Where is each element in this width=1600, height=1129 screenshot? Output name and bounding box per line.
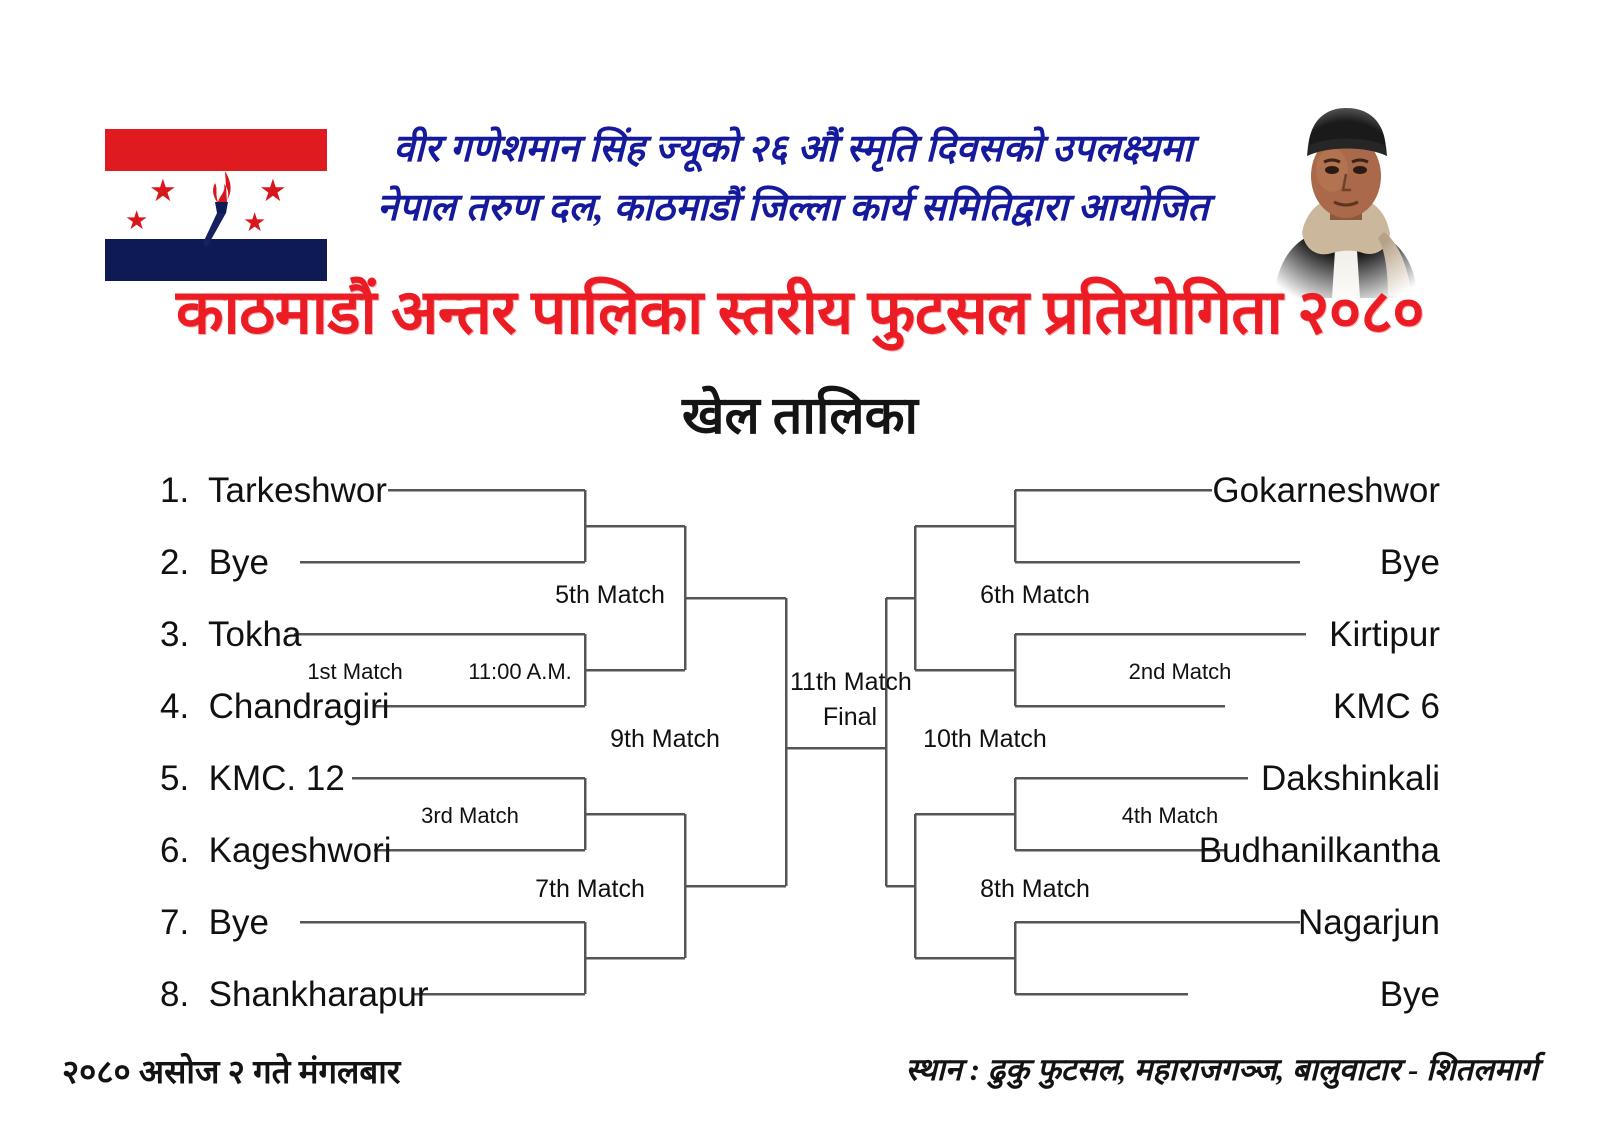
team-name: Bye <box>209 543 269 582</box>
bracket-team-left-2: 2. Bye <box>160 545 269 580</box>
match-label-9th: 9th Match <box>595 725 735 754</box>
tournament-bracket: 1. Tarkeshwor 2. Bye 3. Tokha 4. Chandra… <box>0 440 1600 1030</box>
team-name: KMC. 12 <box>209 759 345 798</box>
seed-number: 7. <box>160 905 199 940</box>
bracket-team-right-6: Budhanilkantha <box>1199 833 1440 868</box>
match-label-10th: 10th Match <box>910 725 1060 754</box>
bracket-team-left-3: 3. Tokha <box>160 617 301 652</box>
bracket-team-right-1: Gokarneshwor <box>1212 473 1440 508</box>
match-label-7th: 7th Match <box>520 875 660 904</box>
team-name: Bye <box>209 903 269 942</box>
bracket-team-left-1: 1. Tarkeshwor <box>160 473 387 508</box>
bracket-team-left-8: 8. Shankharapur <box>160 977 429 1012</box>
page-title: काठमाडौं अन्तर पालिका स्तरीय फुटसल प्रति… <box>0 268 1600 352</box>
event-venue: स्थान : ढुकु फुटसल, महाराजगञ्ज, बालुवाटा… <box>906 1048 1539 1090</box>
torch-icon <box>191 169 249 251</box>
header-band: ★ ★ ★ ★ वीर गणेशमान सिंह ज्यूको २६ औं स्… <box>0 48 1600 248</box>
seed-number: 4. <box>160 689 199 724</box>
flag-star-icon: ★ <box>259 175 287 206</box>
seed-number: 6. <box>160 833 199 868</box>
bracket-team-right-8: Bye <box>1380 977 1440 1012</box>
seed-number: 1. <box>160 473 199 508</box>
organizer-line-2: नेपाल तरुण दल, काठमाडौं जिल्ला कार्य समि… <box>348 179 1238 238</box>
organizer-text: वीर गणेशमान सिंह ज्यूको २६ औं स्मृति दिव… <box>348 120 1238 238</box>
match-label-final: Final <box>790 703 910 732</box>
flag-star-icon: ★ <box>149 175 177 206</box>
seed-number: 5. <box>160 761 199 796</box>
match-label-1st: 1st Match <box>280 659 430 684</box>
match-label-6th: 6th Match <box>965 581 1105 610</box>
bracket-team-left-5: 5. KMC. 12 <box>160 761 345 796</box>
seed-number: 3. <box>160 617 199 652</box>
bracket-team-left-7: 7. Bye <box>160 905 269 940</box>
match-time-1st: 11:00 A.M. <box>455 659 585 684</box>
team-name: Tokha <box>208 615 301 654</box>
match-label-5th: 5th Match <box>540 581 680 610</box>
team-name: Tarkeshwor <box>208 471 387 510</box>
event-date: २०८० असोज २ गते मंगलबार <box>62 1048 400 1093</box>
team-name: Kageshwori <box>209 831 392 870</box>
team-name: Chandragiri <box>209 687 390 726</box>
bracket-team-right-4: KMC 6 <box>1333 689 1440 724</box>
bracket-team-right-7: Nagarjun <box>1298 905 1440 940</box>
match-label-3rd: 3rd Match <box>395 803 545 828</box>
seed-number: 2. <box>160 545 199 580</box>
bracket-team-left-6: 6. Kageshwori <box>160 833 392 868</box>
bracket-team-left-4: 4. Chandragiri <box>160 689 390 724</box>
page-subtitle: खेल तालिका <box>0 378 1600 449</box>
team-name: Shankharapur <box>209 975 429 1014</box>
match-label-11th: 11th Match <box>790 668 910 697</box>
nepal-tarun-dal-flag: ★ ★ ★ ★ <box>104 128 328 282</box>
organizer-line-1: वीर गणेशमान सिंह ज्यूको २६ औं स्मृति दिव… <box>348 120 1238 179</box>
bracket-team-right-2: Bye <box>1380 545 1440 580</box>
match-label-2nd: 2nd Match <box>1105 659 1255 684</box>
bracket-team-right-5: Dakshinkali <box>1261 761 1440 796</box>
poster-root: ★ ★ ★ ★ वीर गणेशमान सिंह ज्यूको २६ औं स्… <box>0 0 1600 1129</box>
flag-red-band <box>105 129 327 171</box>
match-label-4th: 4th Match <box>1095 803 1245 828</box>
match-label-8th: 8th Match <box>965 875 1105 904</box>
seed-number: 8. <box>160 977 199 1012</box>
bracket-team-right-3: Kirtipur <box>1329 617 1440 652</box>
flag-star-icon: ★ <box>125 207 148 233</box>
